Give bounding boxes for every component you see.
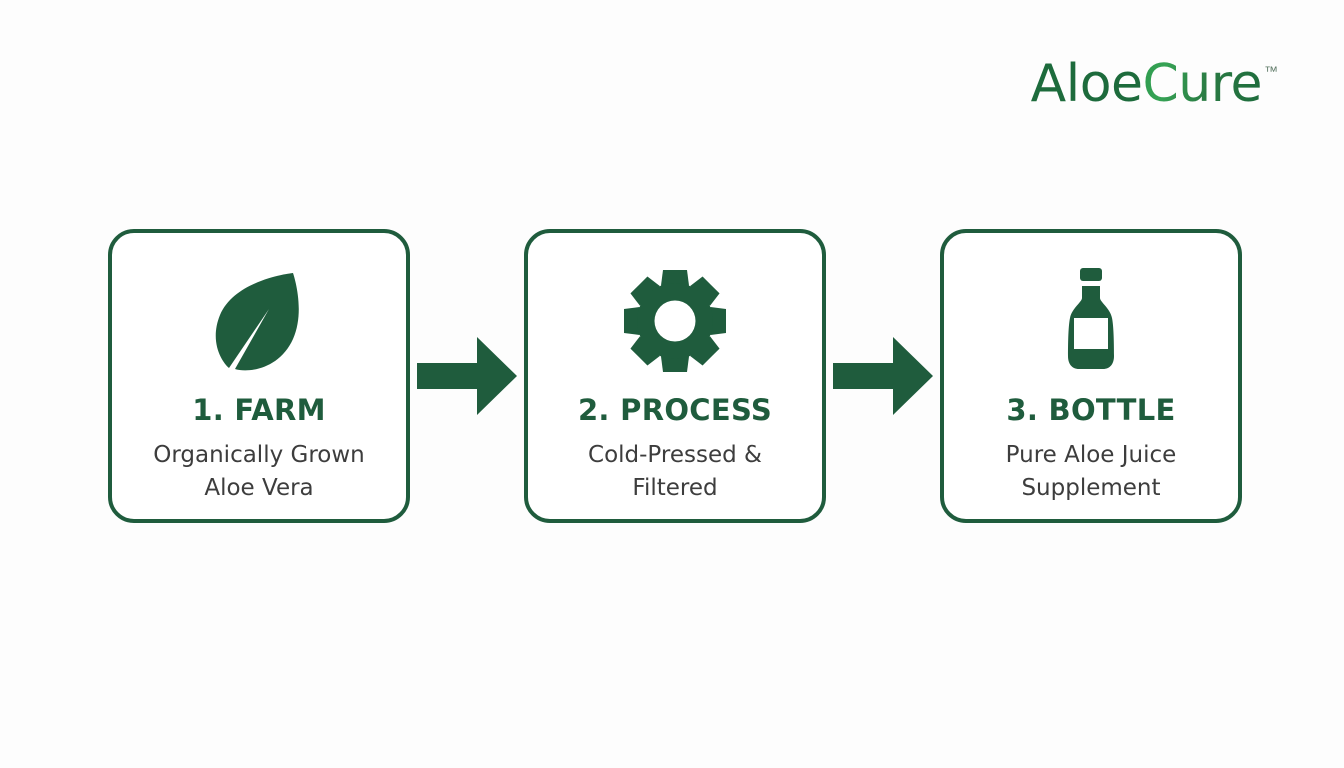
trademark-symbol: ™ — [1264, 64, 1278, 78]
step-subtitle: Organically Grown Aloe Vera — [112, 439, 406, 504]
brand-logo-text-cure: Cure — [1143, 58, 1263, 110]
step-title: 1. FARM — [192, 393, 326, 427]
arrow-right-icon — [826, 228, 940, 524]
brand-logo: AloeCure™ — [1031, 58, 1278, 110]
step-card-farm: 1. FARM Organically Grown Aloe Vera — [108, 229, 410, 523]
bottle-icon — [1060, 263, 1122, 379]
step-title: 2. PROCESS — [578, 393, 772, 427]
process-flow-diagram: 1. FARM Organically Grown Aloe Vera — [108, 228, 1242, 524]
brand-logo-text-aloe: Aloe — [1031, 58, 1143, 110]
gear-icon — [624, 263, 726, 379]
step-title: 3. BOTTLE — [1006, 393, 1175, 427]
step-subtitle: Cold-Pressed & Filtered — [528, 439, 822, 504]
step-subtitle: Pure Aloe Juice Supplement — [944, 439, 1238, 504]
step-card-bottle: 3. BOTTLE Pure Aloe Juice Supplement — [940, 229, 1242, 523]
step-card-process: 2. PROCESS Cold-Pressed & Filtered — [524, 229, 826, 523]
arrow-right-icon — [410, 228, 524, 524]
leaf-icon — [209, 263, 309, 379]
